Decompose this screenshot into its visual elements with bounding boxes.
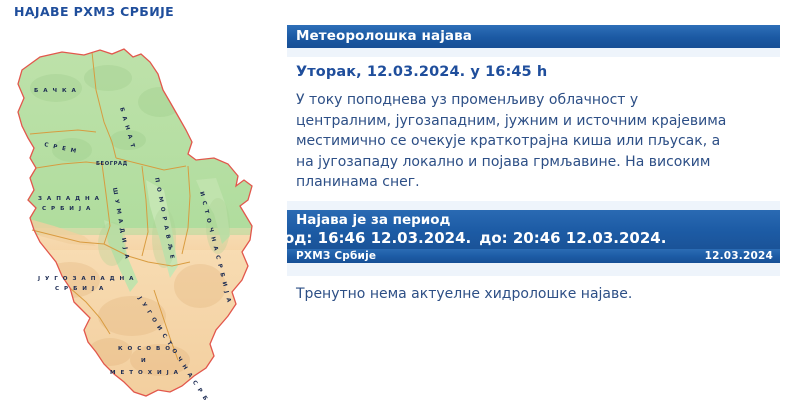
meteo-announcement-header: Метеоролошка најава [287, 25, 780, 48]
body-divider-strip [287, 201, 780, 210]
map-label-kosovo-line2: И [141, 358, 147, 364]
validity-period-from: од: 16:46 12.03.2024. [287, 229, 471, 247]
hydrology-announcement-text: Тренутно нема актуелне хидролошке најаве… [287, 276, 780, 304]
map-label-backa: Б А Ч К А [34, 88, 77, 94]
source-footer-bar: РХМЗ Србије 12.03.2024 [287, 249, 780, 263]
map-label-zapadna-srbija-line1: З А П А Д Н А [38, 196, 101, 202]
announcement-panel: Метеоролошка најава Уторак, 12.03.2024. … [287, 25, 780, 304]
validity-period-range: од: 16:46 12.03.2024.до: 20:46 12.03.202… [287, 229, 780, 247]
source-label: РХМЗ Србије [296, 249, 376, 263]
map-label-beograd: БЕОГРАД [96, 161, 128, 167]
announcement-body-text: У току поподнева уз променљиву облачност… [287, 84, 742, 201]
map-label-zapadna-srbija-line2: С Р Б И Ј А [42, 206, 92, 212]
source-date: 12.03.2024 [705, 249, 773, 263]
serbia-regions-map: Б А Ч К А Б А Н А Т С Р Е М БЕОГРАД З А … [0, 30, 280, 402]
validity-period-block: Најава је за период од: 16:46 12.03.2024… [287, 210, 780, 249]
map-label-kosovo-line1: К О С О В О [118, 346, 171, 352]
serbia-map-panel: Б А Ч К А Б А Н А Т С Р Е М БЕОГРАД З А … [0, 30, 280, 402]
source-underline-strip [287, 263, 780, 276]
map-label-kosovo-line3: М Е Т О Х И Ј А [110, 370, 180, 376]
announcement-datetime: Уторак, 12.03.2024. у 16:45 h [287, 57, 780, 84]
page-title: НАЈАВЕ РХМЗ СРБИЈЕ [14, 4, 174, 19]
validity-period-title: Најава је за период [287, 212, 780, 229]
header-underline-strip [287, 48, 780, 57]
validity-period-to: до: 20:46 12.03.2024. [479, 229, 666, 247]
map-label-jugozapadna-srbija-line2: С Р Б И Ј А [55, 286, 105, 292]
map-label-jugozapadna-srbija-line1: Ј У Г О З А П А Д Н А [37, 276, 135, 282]
